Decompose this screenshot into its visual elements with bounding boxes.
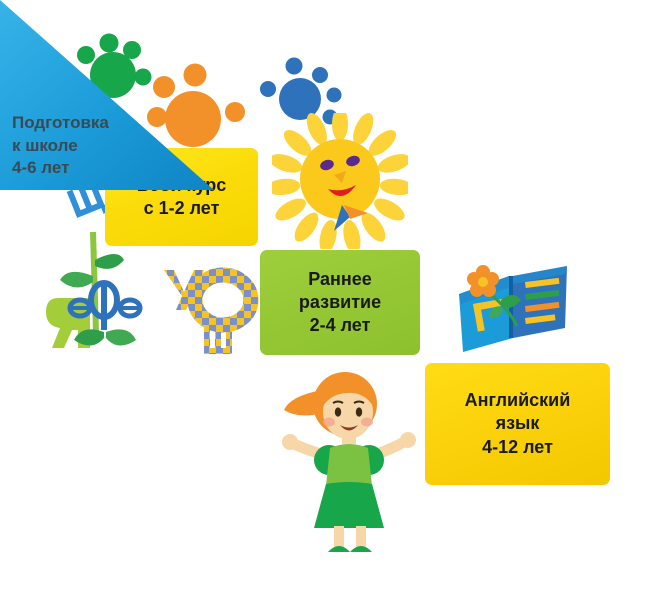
poster-canvas: Бэби курс с 1-2 лет Подготовка к школе 4…: [0, 0, 659, 607]
card-early-development[interactable]: Раннее развитие 2-4 лет: [260, 250, 420, 355]
card-english-language-title: Английский язык 4-12 лет: [425, 389, 610, 458]
open-book-icon: [455, 256, 575, 356]
card-early-development-title: Раннее развитие 2-4 лет: [260, 268, 420, 337]
card-school-prep-title: Подготовка к школе 4-6 лет: [12, 112, 109, 180]
card-school-prep[interactable]: Подготовка к школе 4-6 лет: [0, 0, 214, 190]
girl-illustration-icon: [272, 362, 424, 558]
smiling-sun-icon: [272, 113, 408, 249]
checkered-letters-icon: [160, 262, 260, 357]
card-english-language[interactable]: Английский язык 4-12 лет: [425, 363, 610, 485]
